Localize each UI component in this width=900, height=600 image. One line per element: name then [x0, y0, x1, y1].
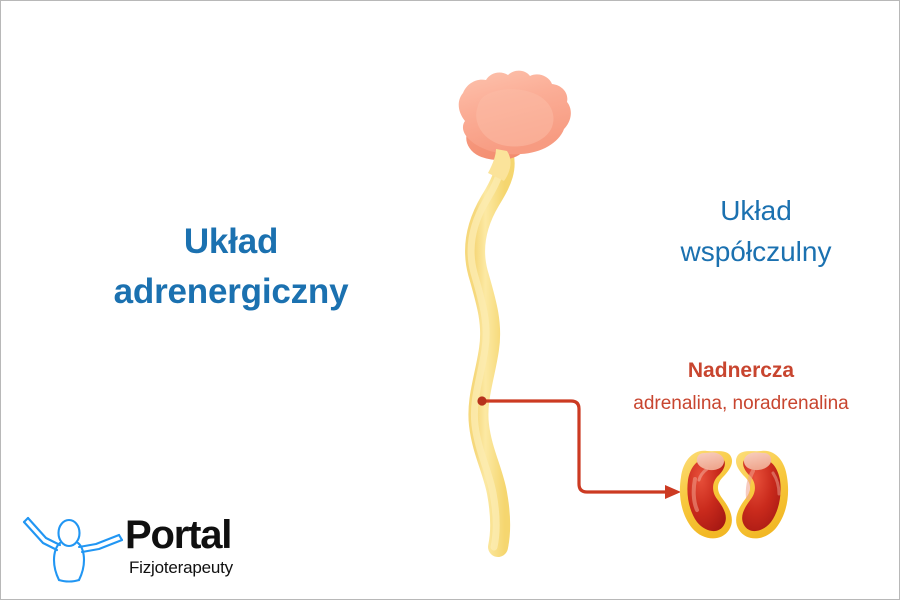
kidney-right — [736, 451, 788, 539]
brand-logo[interactable]: Portal Fizjoterapeuty — [19, 509, 269, 589]
adrenal-hormones-label: adrenalina, noradrenalina — [581, 393, 900, 416]
stretching-person-icon — [19, 511, 127, 585]
page-title-adrenergic: Układ adrenergiczny — [61, 217, 401, 316]
logo-tagline-text: Fizjoterapeuty — [129, 559, 233, 576]
kidneys-illustration — [680, 451, 788, 539]
adrenal-gland-label: Nadnercza — [601, 358, 881, 383]
infographic-canvas: Układ adrenergiczny Układ współczulny Na… — [0, 0, 900, 600]
page-title-line2: adrenergiczny — [61, 267, 401, 317]
logo-brand-text: Portal — [125, 515, 231, 555]
spinal-cord-illustration — [471, 147, 505, 547]
subtitle-sympathetic: Układ współczulny — [641, 191, 871, 272]
page-title-line1: Układ — [61, 217, 401, 267]
brain-illustration — [459, 71, 571, 181]
kidney-left — [680, 451, 732, 539]
subtitle-line1: Układ — [641, 191, 871, 232]
subtitle-line2: współczulny — [641, 232, 871, 273]
